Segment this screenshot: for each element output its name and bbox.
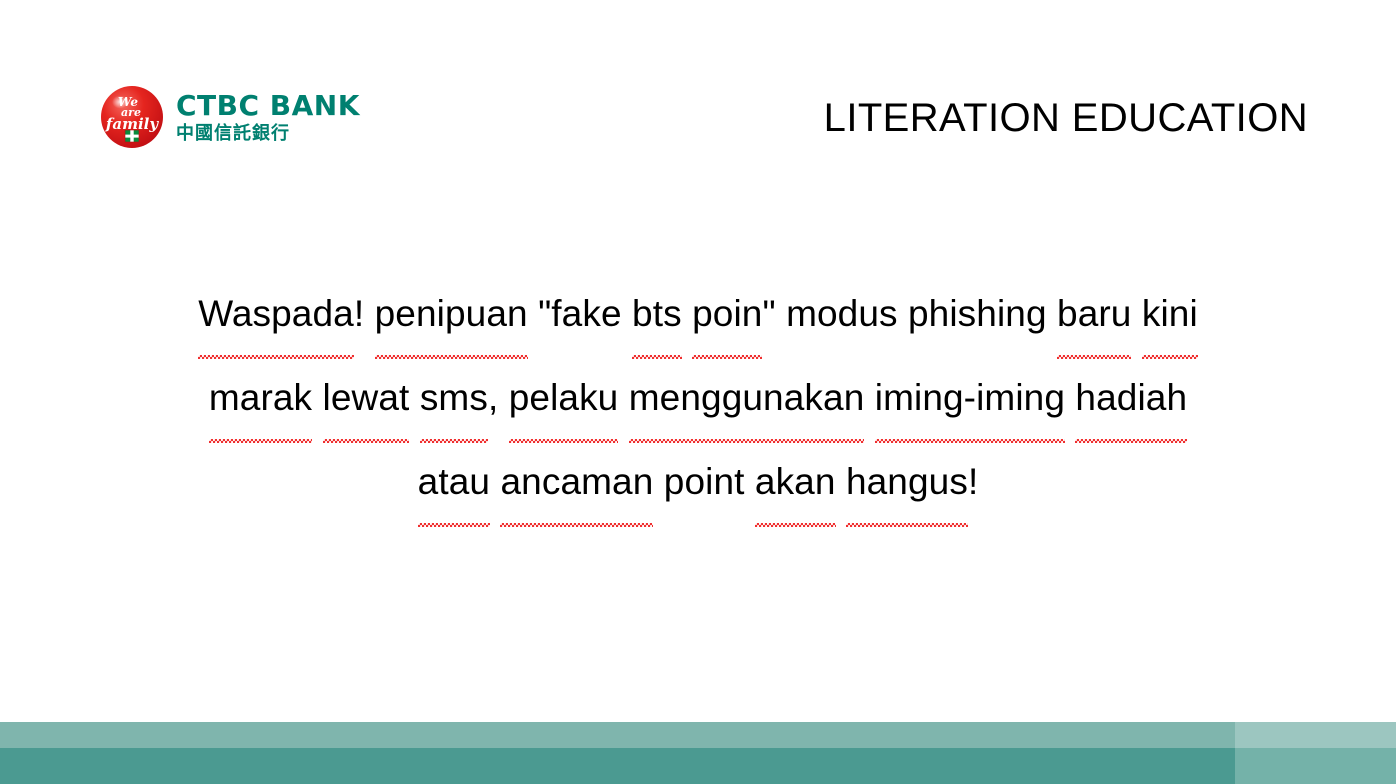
we-are-family-logo-icon: We are family bbox=[98, 83, 166, 151]
misspelled-word: akan bbox=[755, 440, 836, 524]
slide-canvas: We are family CTBC BANK 中國信託銀行 LITERATIO… bbox=[0, 0, 1396, 784]
footer-bar-right-bottom bbox=[1235, 748, 1396, 784]
body-line-3: atau ancaman point akan hangus! bbox=[80, 440, 1316, 524]
slide-header: We are family CTBC BANK 中國信託銀行 LITERATIO… bbox=[0, 0, 1396, 190]
misspelled-word: marak bbox=[209, 356, 312, 440]
page-title: LITERATION EDUCATION bbox=[824, 96, 1308, 141]
misspelled-word: sms bbox=[420, 356, 488, 440]
footer-bar-left-top bbox=[0, 722, 1235, 748]
misspelled-word: hadiah bbox=[1075, 356, 1187, 440]
misspelled-word: Waspada bbox=[198, 272, 354, 356]
misspelled-word: lewat bbox=[323, 356, 410, 440]
footer-bar-right-top bbox=[1235, 722, 1396, 748]
footer-bar-left-bottom bbox=[0, 748, 1235, 784]
logo-name-cn: 中國信託銀行 bbox=[176, 123, 360, 146]
misspelled-word: ancaman bbox=[500, 440, 653, 524]
misspelled-word: hangus bbox=[846, 440, 968, 524]
body-line-1: Waspada! penipuan "fake bts poin" modus … bbox=[80, 272, 1316, 356]
misspelled-word: iming-iming bbox=[875, 356, 1065, 440]
slide-body: Waspada! penipuan "fake bts poin" modus … bbox=[80, 272, 1316, 524]
misspelled-word: poin bbox=[692, 272, 762, 356]
slide-footer-decoration bbox=[0, 722, 1396, 784]
body-line-2: marak lewat sms, pelaku menggunakan imin… bbox=[80, 356, 1316, 440]
misspelled-word: baru bbox=[1057, 272, 1131, 356]
ctbc-bank-logo: We are family CTBC BANK 中國信託銀行 bbox=[98, 83, 360, 151]
misspelled-word: kini bbox=[1142, 272, 1198, 356]
logo-name-en: CTBC BANK bbox=[176, 91, 360, 120]
misspelled-word: atau bbox=[418, 440, 490, 524]
misspelled-word: penipuan bbox=[375, 272, 528, 356]
misspelled-word: menggunakan bbox=[629, 356, 865, 440]
misspelled-word: bts bbox=[632, 272, 682, 356]
logo-wordmark: CTBC BANK 中國信託銀行 bbox=[176, 89, 360, 146]
misspelled-word: pelaku bbox=[509, 356, 619, 440]
